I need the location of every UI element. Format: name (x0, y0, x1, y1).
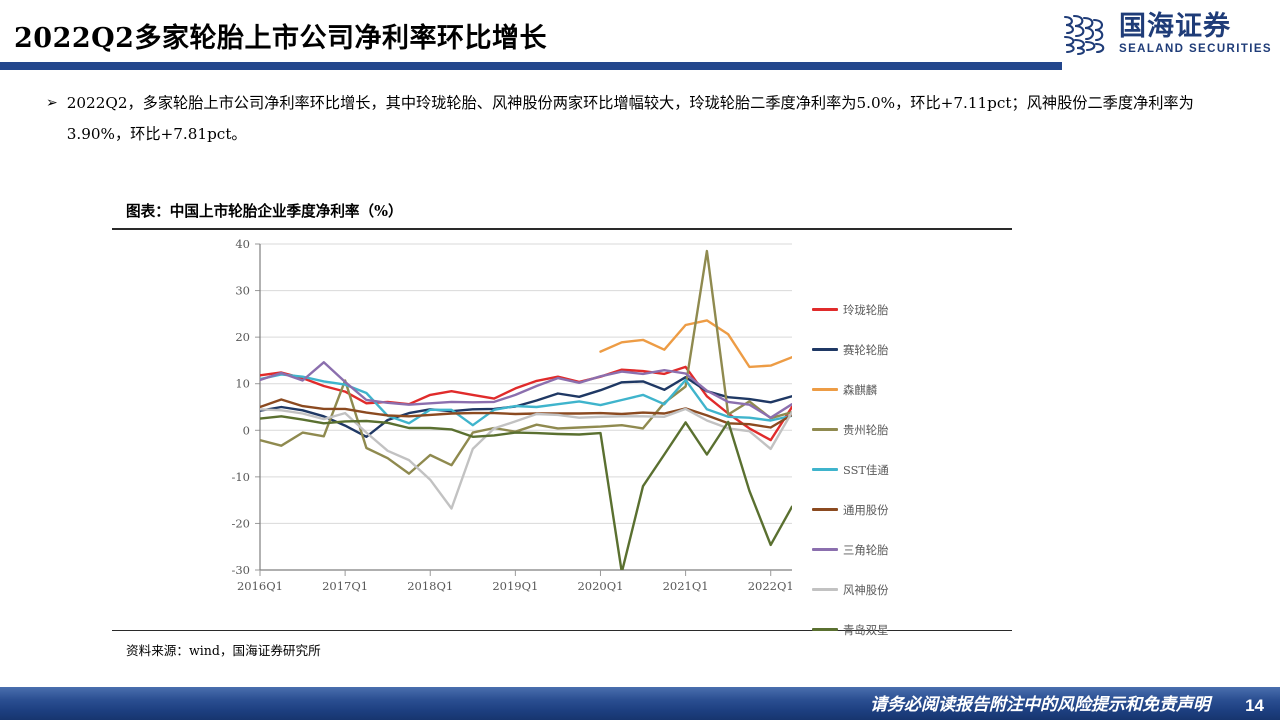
bullet-text: 2022Q2，多家轮胎上市公司净利率环比增长，其中玲珑轮胎、风神股份两家环比增幅… (67, 88, 1251, 150)
legend-color-swatch (812, 548, 838, 551)
legend-color-swatch (812, 508, 838, 511)
chart-legend: 玲珑轮胎赛轮轮胎森麒麟贵州轮胎SST佳通通用股份三角轮胎风神股份青岛双星 (812, 290, 889, 650)
chart-area: -30-20-100102030402016Q12017Q12018Q12019… (112, 230, 1012, 628)
legend-item[interactable]: 森麒麟 (812, 370, 889, 410)
page-title: 2022Q2多家轮胎上市公司净利率环比增长 (14, 16, 547, 55)
legend-item[interactable]: 青岛双星 (812, 610, 889, 650)
logo-name-cn: 国海证券 (1119, 13, 1231, 41)
x-axis-tick-label: 2017Q1 (322, 579, 368, 593)
chart-series-line (260, 416, 792, 572)
legend-item[interactable]: 玲珑轮胎 (812, 290, 889, 330)
legend-color-swatch (812, 628, 838, 631)
legend-label: 通用股份 (843, 502, 889, 518)
legend-item[interactable]: 通用股份 (812, 490, 889, 530)
legend-item[interactable]: 三角轮胎 (812, 530, 889, 570)
x-axis-tick-label: 2016Q1 (237, 579, 283, 593)
legend-label: SST佳通 (843, 462, 889, 478)
y-axis-tick-label: -10 (231, 469, 250, 483)
legend-color-swatch (812, 308, 838, 311)
slide-root: 2022Q2多家轮胎上市公司净利率环比增长 国海证券 SEALAND SECUR… (0, 0, 1280, 720)
company-logo: 国海证券 SEALAND SECURITIES (1060, 12, 1272, 56)
legend-color-swatch (812, 468, 838, 471)
logo-name-en: SEALAND SECURITIES (1119, 43, 1272, 55)
y-axis-tick-label: -30 (231, 563, 250, 577)
header-rule (0, 62, 1062, 70)
x-axis-tick-label: 2022Q1 (748, 579, 794, 593)
y-axis-tick-label: 40 (235, 237, 250, 251)
y-axis-tick-label: 0 (243, 423, 250, 437)
legend-color-swatch (812, 388, 838, 391)
y-axis-tick-label: 30 (235, 283, 250, 297)
legend-label: 赛轮轮胎 (843, 342, 889, 358)
legend-label: 三角轮胎 (843, 542, 889, 558)
legend-item[interactable]: 贵州轮胎 (812, 410, 889, 450)
x-axis-tick-label: 2020Q1 (577, 579, 623, 593)
chart-series-line (260, 251, 792, 474)
legend-label: 青岛双星 (843, 622, 889, 638)
x-axis-tick-label: 2019Q1 (492, 579, 538, 593)
footer-disclaimer: 请务必阅读报告附注中的风险提示和免责声明 (870, 690, 1210, 715)
legend-color-swatch (812, 588, 838, 591)
exhibit-panel: 图表：中国上市轮胎企业季度净利率（%） -30-20-1001020304020… (112, 200, 1012, 659)
legend-item[interactable]: SST佳通 (812, 450, 889, 490)
exhibit-title: 图表：中国上市轮胎企业季度净利率（%） (112, 200, 1012, 228)
legend-color-swatch (812, 428, 838, 431)
x-axis-tick-label: 2021Q1 (663, 579, 709, 593)
y-axis-tick-label: 10 (235, 376, 250, 390)
legend-item[interactable]: 赛轮轮胎 (812, 330, 889, 370)
x-axis-tick-label: 2018Q1 (407, 579, 453, 593)
legend-label: 玲珑轮胎 (843, 302, 889, 318)
legend-color-swatch (812, 348, 838, 351)
legend-label: 贵州轮胎 (843, 422, 889, 438)
legend-label: 森麒麟 (843, 382, 877, 398)
y-axis-tick-label: 20 (235, 330, 250, 344)
y-axis-tick-label: -20 (231, 516, 250, 530)
legend-item[interactable]: 风神股份 (812, 570, 889, 610)
chart-series-line (601, 320, 793, 367)
logo-text-block: 国海证券 SEALAND SECURITIES (1119, 13, 1272, 55)
legend-label: 风神股份 (843, 582, 889, 598)
sealand-wave-logo-icon (1060, 12, 1112, 56)
page-number: 14 (1245, 696, 1264, 716)
bullet-marker-icon: ➢ (46, 88, 58, 150)
bullet-paragraph: ➢ 2022Q2，多家轮胎上市公司净利率环比增长，其中玲珑轮胎、风神股份两家环比… (46, 88, 1251, 150)
